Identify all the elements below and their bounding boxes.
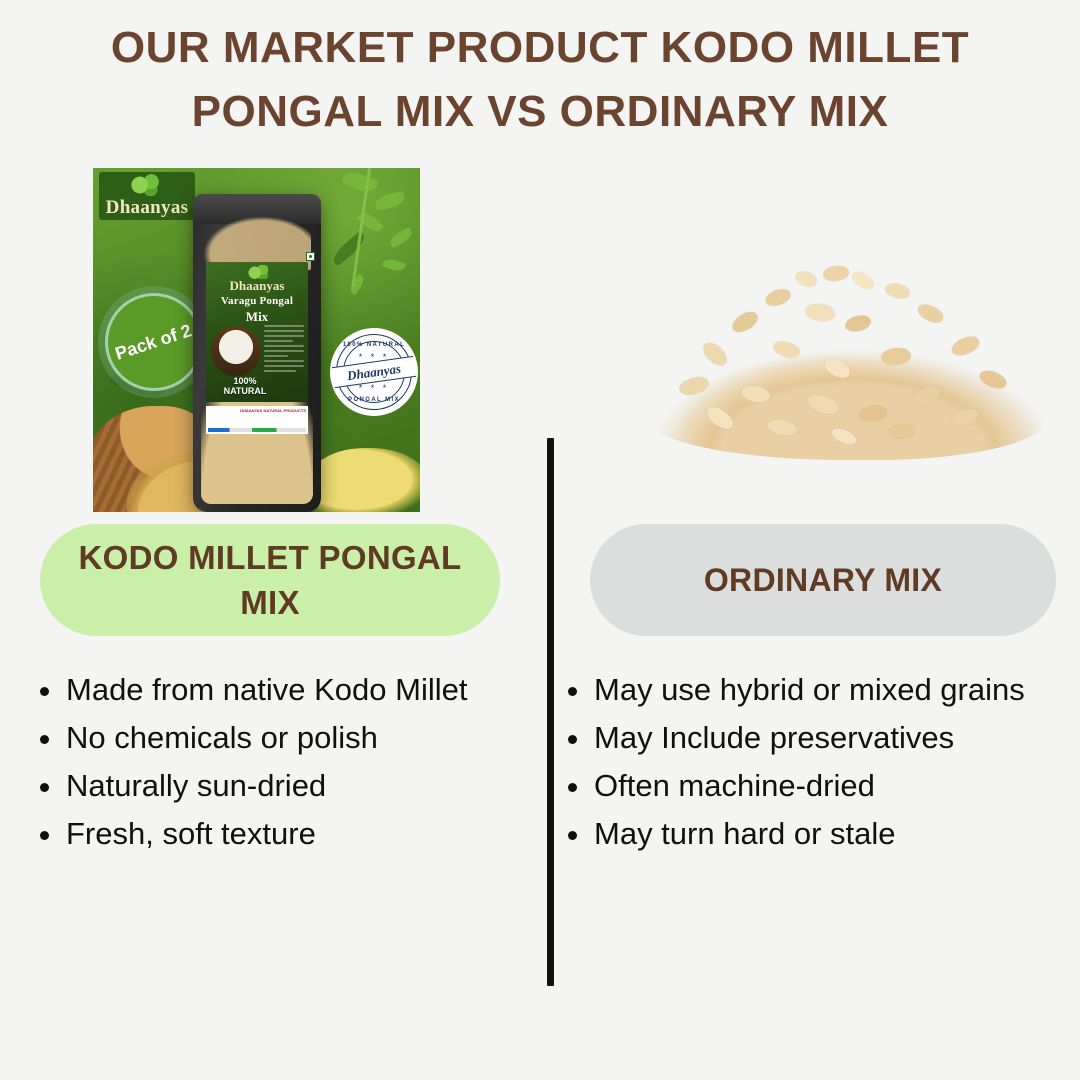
ordinary-mix-drawbacks-list: May use hybrid or mixed grains May Inclu… [554, 666, 1074, 858]
page-title: OUR MARKET PRODUCT KODO MILLET PONGAL MI… [0, 16, 1080, 144]
list-item: Made from native Kodo Millet [26, 666, 526, 714]
pouch-info-panel: DHAANYAS NATURAL PRODUCTS [206, 406, 308, 434]
list-item: May use hybrid or mixed grains [554, 666, 1074, 714]
kodo-millet-pill-label: KODO MILLET PONGAL MIX [66, 535, 474, 625]
leaf-logo-icon [129, 174, 165, 196]
list-item: Fresh, soft texture [26, 810, 526, 858]
leaf-logo-icon [248, 265, 272, 279]
pack-of-2-label: Pack of 2 [113, 320, 195, 364]
list-item: Often machine-dried [554, 762, 1074, 810]
pouch-brand-text: Dhaanyas [206, 278, 308, 294]
kodo-millet-pill: KODO MILLET PONGAL MIX [40, 524, 500, 636]
pouch-title-line-2: Mix [206, 309, 308, 325]
pouch-front-label: Dhaanyas Varagu Pongal Mix 100% NATURAL [206, 262, 308, 402]
brand-logo: Dhaanyas [99, 172, 195, 220]
pongal-bowl-photo [211, 326, 261, 376]
seal-bottom-text: PONGAL MIX [337, 397, 411, 403]
flake [822, 264, 850, 283]
vegetarian-mark-icon [306, 252, 315, 261]
natural-seal-badge: 100% NATURAL * * * Dhaanyas * * * PONGAL… [330, 328, 418, 416]
pouch-description-lines [264, 325, 304, 375]
column-ordinary-mix: ORDINARY MIX May use hybrid or mixed gra… [540, 160, 1080, 1080]
ordinary-mix-pill-label: ORDINARY MIX [704, 558, 942, 603]
natural-claim-badge: 100% NATURAL [214, 376, 276, 396]
list-item: May Include preservatives [554, 714, 1074, 762]
natural-claim-line-1: 100% [214, 376, 276, 386]
ordinary-mix-pill: ORDINARY MIX [590, 524, 1056, 636]
list-item: No chemicals or polish [26, 714, 526, 762]
seal-dots-bottom: * * * [337, 383, 411, 393]
product-pouch: Dhaanyas Varagu Pongal Mix 100% NATURAL [193, 194, 321, 512]
seal-inner-ring: 100% NATURAL * * * Dhaanyas * * * PONGAL… [336, 334, 412, 410]
ordinary-mix-photo [610, 200, 1080, 490]
vertical-divider [547, 438, 554, 986]
page-title-line-2: PONGAL MIX VS ORDINARY MIX [0, 80, 1080, 144]
brand-logo-text: Dhaanyas [106, 198, 189, 217]
list-item: Naturally sun-dried [26, 762, 526, 810]
list-item: May turn hard or stale [554, 810, 1074, 858]
comparison-columns: Dhaanyas Pack of 2 Dhaanyas Varagu Ponga… [0, 160, 1080, 1080]
pouch-info-colorbar [208, 428, 306, 432]
column-kodo-millet: Dhaanyas Pack of 2 Dhaanyas Varagu Ponga… [0, 160, 540, 1080]
cooked-pongal-dish [308, 448, 420, 512]
flake-pile [645, 260, 1045, 460]
kodo-millet-product-photo: Dhaanyas Pack of 2 Dhaanyas Varagu Ponga… [93, 168, 420, 512]
pack-of-2-badge: Pack of 2 [105, 293, 203, 391]
pouch-title-line-1: Varagu Pongal [206, 295, 308, 307]
seal-top-text: 100% NATURAL [337, 342, 411, 348]
natural-claim-line-2: NATURAL [214, 386, 276, 396]
page-title-line-1: OUR MARKET PRODUCT KODO MILLET [0, 16, 1080, 80]
flake [793, 269, 818, 289]
kodo-millet-benefits-list: Made from native Kodo Millet No chemical… [26, 666, 526, 858]
pouch-info-body [208, 413, 306, 417]
